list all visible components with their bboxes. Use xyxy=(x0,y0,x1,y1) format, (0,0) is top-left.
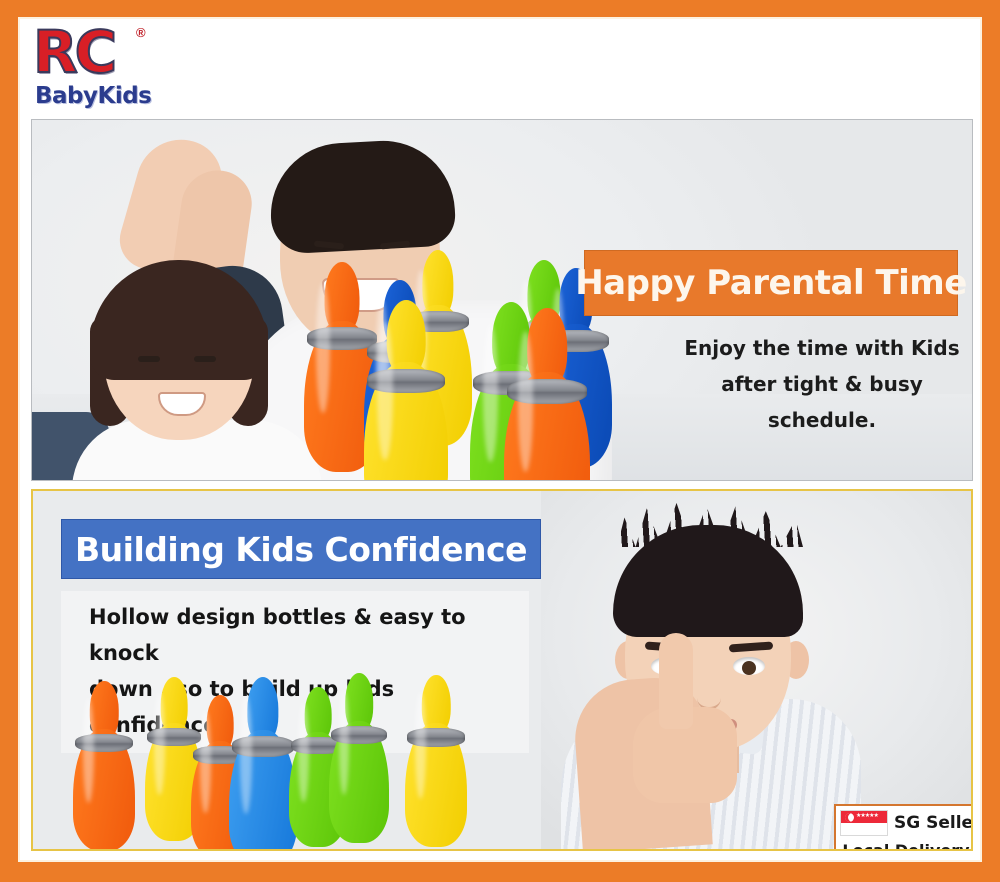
logo-subtitle-text: BabyKids xyxy=(35,83,151,109)
local-delivery-label: Local Delivery xyxy=(840,837,972,851)
bowling-pin xyxy=(504,308,590,481)
sg-seller-badge: ★★★★★ SG Seller Local Delivery xyxy=(834,804,973,851)
sg-seller-label: SG Seller xyxy=(894,813,973,833)
top-banner: Happy Parental Time xyxy=(584,250,958,316)
bowling-pin xyxy=(329,673,389,843)
bowling-pin xyxy=(229,677,297,851)
top-caption: Enjoy the time with Kids after tight & b… xyxy=(672,330,972,438)
singapore-flag-icon: ★★★★★ xyxy=(840,810,888,836)
boy-pupil-right xyxy=(742,661,756,675)
top-feature-panel: Happy Parental Time Enjoy the time with … xyxy=(31,119,973,481)
thumbs-up-icon xyxy=(659,633,693,729)
bowling-pin xyxy=(364,300,448,481)
registered-trademark-icon: ® xyxy=(136,25,146,40)
top-banner-title: Happy Parental Time xyxy=(575,263,967,303)
flag-crescent-icon xyxy=(845,813,854,822)
bowling-pin xyxy=(405,675,467,847)
poster-inner-frame: RC ® BabyKids xyxy=(18,17,982,862)
logo-mark-text: RC xyxy=(33,23,114,81)
bottom-caption-line-1: Hollow design bottles & easy to knock xyxy=(89,599,519,671)
boy-photo xyxy=(541,491,971,849)
girl-eye-right xyxy=(194,356,216,362)
bottom-feature-panel: Building Kids Confidence Hollow design b… xyxy=(31,489,973,851)
product-poster: RC ® BabyKids xyxy=(0,0,1000,882)
sg-seller-row: ★★★★★ SG Seller xyxy=(840,809,972,837)
top-caption-line-1: Enjoy the time with Kids xyxy=(672,330,972,366)
bottom-banner-title: Building Kids Confidence xyxy=(75,530,527,569)
bowling-pin xyxy=(73,681,135,851)
poster-header: RC ® BabyKids xyxy=(20,19,980,111)
flag-stars-icon: ★★★★★ xyxy=(856,813,878,819)
boy-hair-spikes xyxy=(617,501,803,547)
bottom-banner: Building Kids Confidence xyxy=(61,519,541,579)
brand-logo: RC ® BabyKids xyxy=(30,23,190,113)
girl-eye-left xyxy=(138,356,160,362)
top-caption-line-2: after tight & busy schedule. xyxy=(672,366,972,438)
father-hair xyxy=(267,137,456,254)
